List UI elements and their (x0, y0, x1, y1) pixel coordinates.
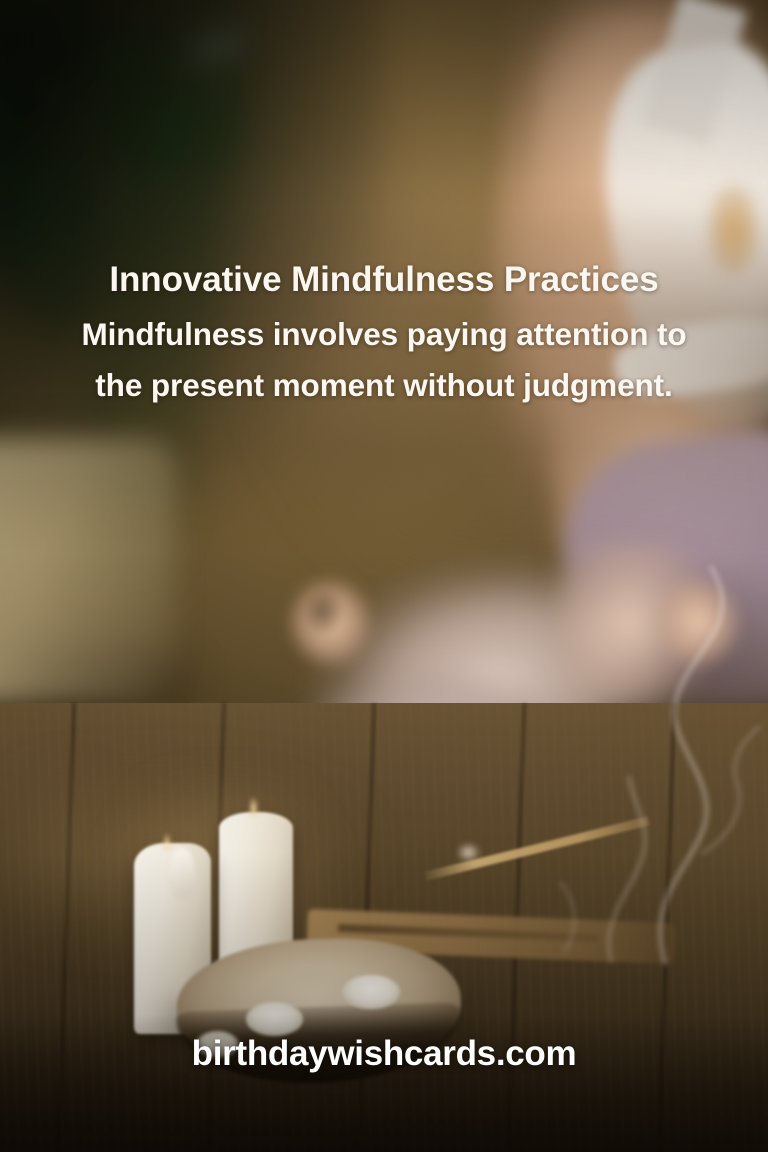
site-watermark: birthdaywishcards.com (0, 1036, 768, 1071)
headline-block: Innovative Mindfulness Practices Mindful… (0, 258, 768, 411)
mindfulness-quote-card: Innovative Mindfulness Practices Mindful… (0, 0, 768, 1152)
subtitle-text: Mindfulness involves paying attention to… (56, 309, 712, 412)
text-overlay: Innovative Mindfulness Practices Mindful… (0, 0, 768, 1152)
page-title: Innovative Mindfulness Practices (56, 258, 712, 303)
